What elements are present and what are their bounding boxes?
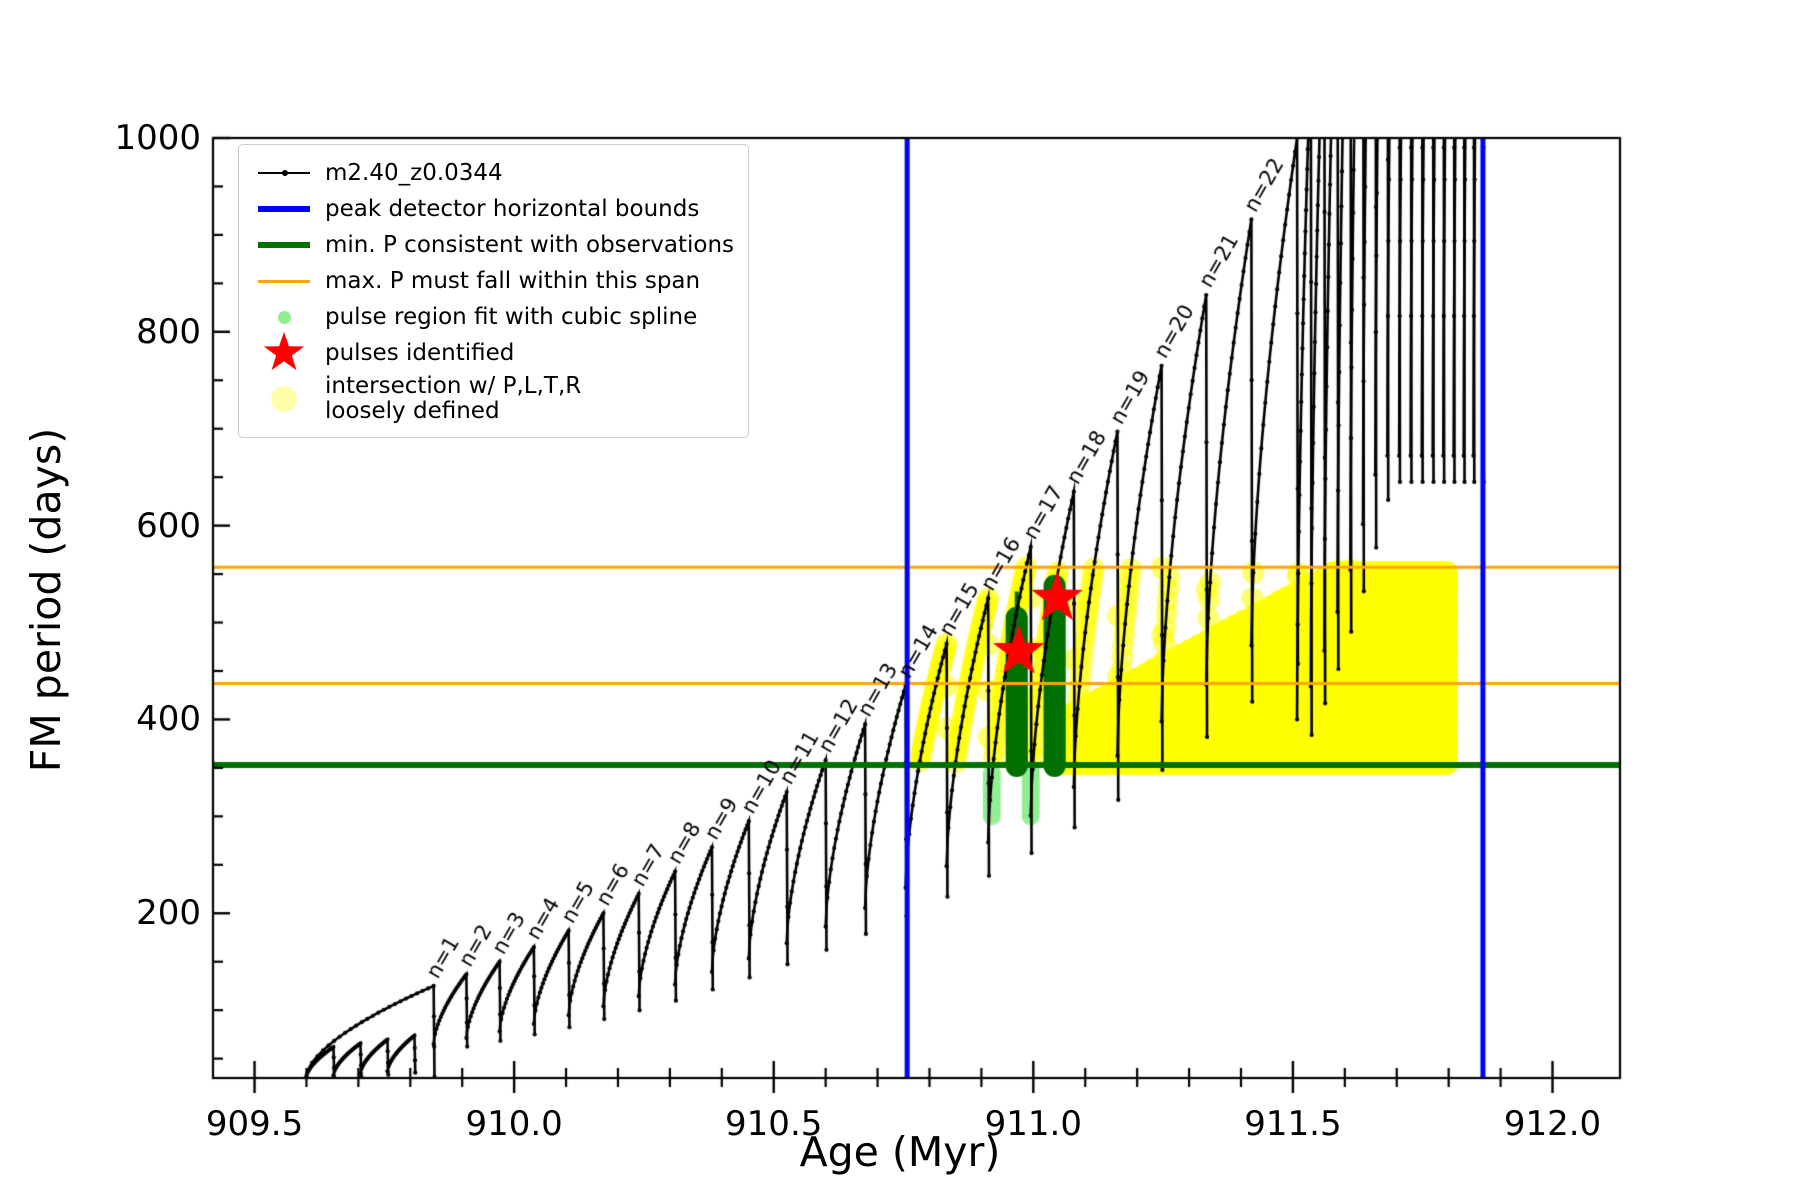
x-tick-label: 910.0 [465, 1104, 562, 1144]
y-tick-label: 200 [51, 893, 201, 933]
x-tick-label: 911.0 [985, 1104, 1082, 1144]
figure-container: FM period (days) Age (Myr) 2004006008001… [0, 0, 1800, 1200]
legend-label: peak detector horizontal bounds [317, 197, 699, 222]
legend-line-icon [251, 227, 317, 263]
line-swatch-icon [258, 206, 310, 212]
legend-entry: m2.40_z0.0344 [251, 155, 734, 191]
legend-label: pulses identified [317, 341, 514, 366]
circle-marker-icon [278, 311, 291, 324]
legend-dot-icon [251, 381, 317, 417]
legend-entry: intersection w/ P,L,T,R loosely defined [251, 371, 734, 427]
legend-entry: min. P consistent with observations [251, 227, 734, 263]
x-tick-label: 910.5 [725, 1104, 822, 1144]
legend-label: max. P must fall within this span [317, 269, 700, 294]
legend-line-marker-icon [251, 155, 317, 191]
star-marker-icon [261, 330, 307, 376]
x-tick-label: 911.5 [1244, 1104, 1341, 1144]
legend-entry: pulses identified [251, 335, 734, 371]
circle-marker-icon [271, 386, 297, 412]
line-swatch-icon [258, 280, 310, 283]
legend-entry: peak detector horizontal bounds [251, 191, 734, 227]
line-with-dot-icon [258, 172, 310, 174]
legend-line-icon [251, 263, 317, 299]
line-swatch-icon [258, 242, 310, 248]
legend-label: min. P consistent with observations [317, 233, 734, 258]
legend-entry: pulse region fit with cubic spline [251, 299, 734, 335]
legend-label: intersection w/ P,L,T,R loosely defined [317, 374, 581, 424]
y-tick-label: 800 [51, 312, 201, 352]
y-tick-label: 600 [51, 506, 201, 546]
y-tick-label: 1000 [51, 118, 201, 158]
y-tick-label: 400 [51, 699, 201, 739]
legend-box: m2.40_z0.0344peak detector horizontal bo… [238, 144, 749, 438]
x-tick-label: 909.5 [206, 1104, 303, 1144]
legend-line-icon [251, 191, 317, 227]
legend-star-icon [251, 335, 317, 371]
legend-label: m2.40_z0.0344 [317, 161, 503, 186]
legend-label: pulse region fit with cubic spline [317, 305, 697, 330]
x-tick-label: 912.0 [1504, 1104, 1601, 1144]
legend-entry: max. P must fall within this span [251, 263, 734, 299]
